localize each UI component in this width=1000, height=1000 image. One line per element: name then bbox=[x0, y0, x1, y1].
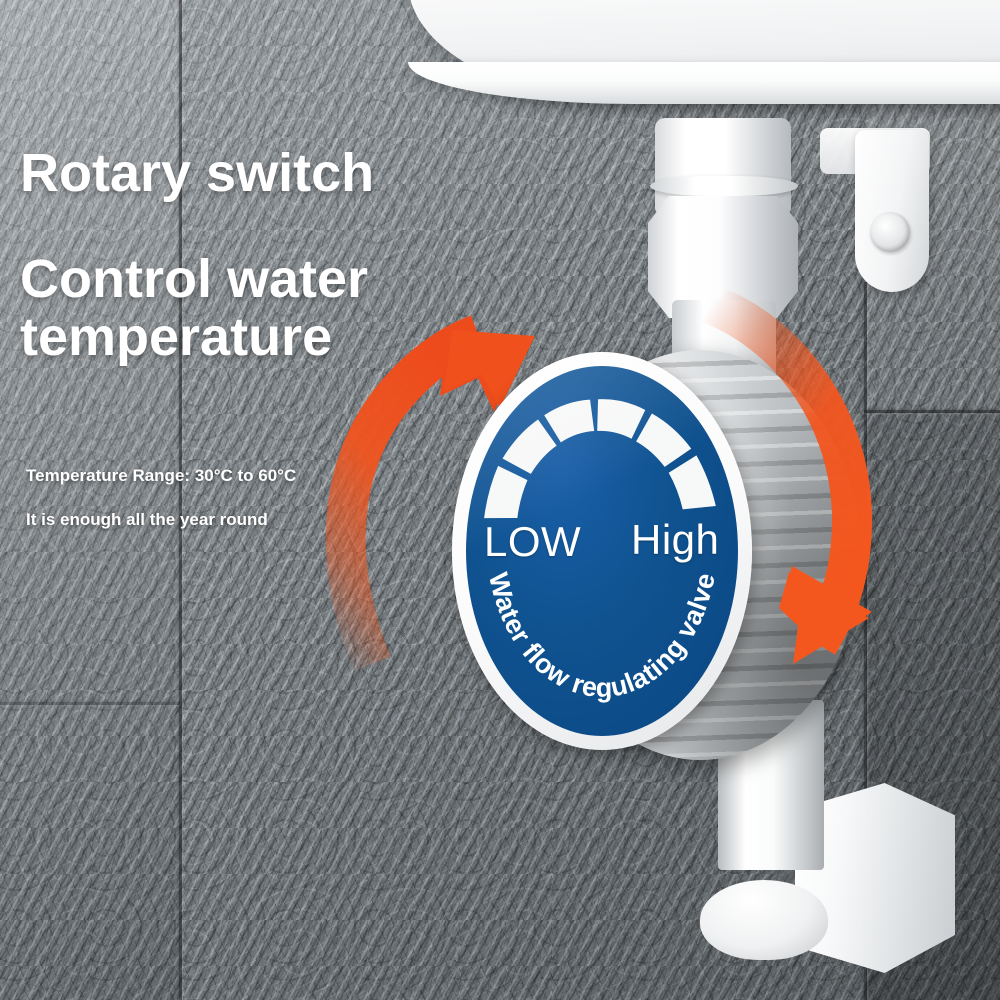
dial-segment-4 bbox=[596, 397, 647, 441]
headline-line-3: temperature bbox=[20, 308, 420, 366]
dial-segment-3 bbox=[544, 399, 595, 443]
dial-segment-5 bbox=[635, 412, 692, 469]
product-image-canvas: Water flow regulating valve LOW High Rot… bbox=[0, 0, 1000, 1000]
dial-label-low: LOW bbox=[484, 518, 581, 566]
dial-segment-6 bbox=[668, 455, 716, 510]
dial-curved-caption: Water flow regulating valve bbox=[483, 570, 721, 703]
headline-line-1: Rotary switch bbox=[20, 144, 374, 202]
dial-segment-2 bbox=[501, 419, 558, 476]
subtext-year-round: It is enough all the year round bbox=[26, 510, 268, 530]
headline-line-2: Control water temperature bbox=[20, 250, 420, 367]
dial-segment-1 bbox=[481, 464, 529, 519]
subtext-temperature-range: Temperature Range: 30°C to 60°C bbox=[26, 466, 296, 486]
headline-line-2a: Control water bbox=[20, 250, 420, 308]
dial-label-high: High bbox=[631, 516, 719, 564]
dial-level-segments bbox=[481, 397, 715, 520]
